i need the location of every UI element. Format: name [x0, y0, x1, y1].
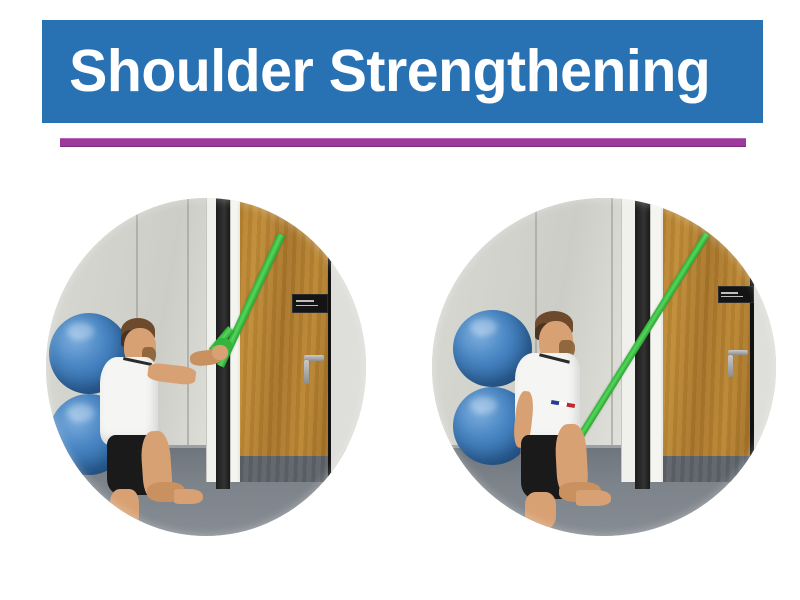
person-front-foot — [576, 490, 610, 505]
door-sign-text-line — [296, 300, 313, 302]
photo-finish-scene — [432, 198, 776, 536]
title-banner: Shoulder Strengthening — [42, 20, 763, 123]
person-rear-lower-leg — [525, 492, 556, 529]
accent-divider-bar — [60, 138, 746, 147]
door-sign-text-line — [721, 296, 743, 297]
door-room-sign — [292, 294, 328, 313]
door-handle-stem — [304, 360, 309, 384]
wall-seam — [187, 198, 189, 455]
door-side-wall — [331, 198, 366, 482]
wall-seam — [611, 198, 613, 455]
door-kickplate — [663, 456, 752, 482]
door-handle-stem — [728, 355, 733, 377]
person-rear-lower-leg — [110, 489, 139, 530]
exercise-photo-start-position — [46, 198, 366, 536]
door-sign-text-line — [721, 292, 738, 294]
door-sign-text-line — [296, 305, 318, 306]
photo-start-scene — [46, 198, 366, 536]
page-title: Shoulder Strengthening — [42, 42, 710, 101]
wooden-door — [238, 198, 330, 482]
person-front-foot — [174, 489, 203, 504]
exercise-photo-finish-position — [432, 198, 776, 536]
door-room-sign — [718, 286, 754, 304]
door-kickplate — [240, 456, 330, 482]
door-side-wall — [754, 198, 776, 482]
